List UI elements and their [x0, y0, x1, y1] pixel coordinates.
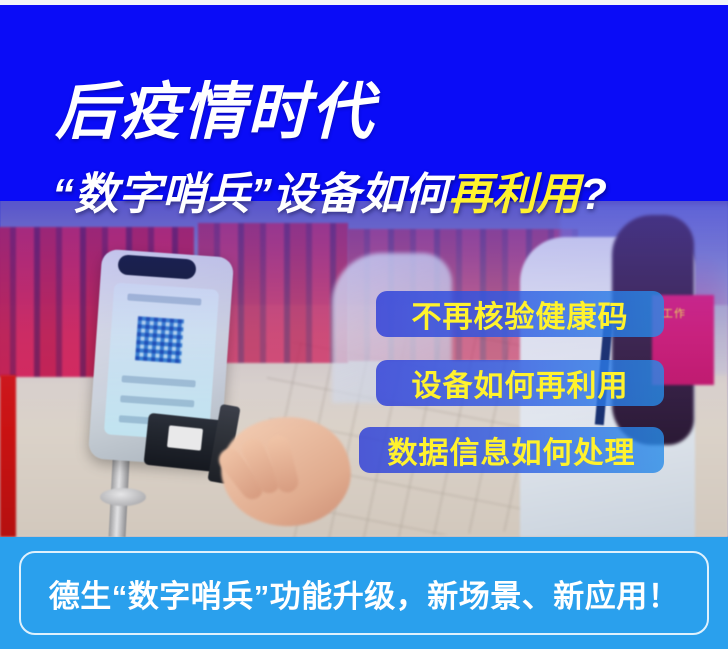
subtitle-prefix: “数字哨兵”设备如何	[52, 170, 448, 219]
topic-pill-label: 设备如何再利用	[412, 361, 629, 405]
poster-root: 工作 后疫情时代 “数字哨兵”设备如何再利用? 不再核验健康码 设备如何再利用 …	[0, 0, 728, 649]
footer-banner-text: 德生“数字哨兵”功能升级，新场景、新应用！	[49, 571, 680, 616]
subtitle-highlight: 再利用	[448, 170, 580, 219]
topic-pill-label: 数据信息如何处理	[388, 428, 636, 472]
footer-banner-box: 德生“数字哨兵”功能升级，新场景、新应用！	[19, 551, 709, 635]
top-white-strip	[0, 0, 728, 5]
page-subtitle: “数字哨兵”设备如何再利用?	[52, 173, 607, 217]
topic-pill-health-code[interactable]: 不再核验健康码	[376, 291, 664, 337]
topic-pill-data-handling[interactable]: 数据信息如何处理	[359, 427, 664, 473]
topic-pill-device-reuse[interactable]: 设备如何再利用	[376, 360, 664, 406]
topic-pill-label: 不再核验健康码	[412, 292, 629, 336]
subtitle-suffix: ?	[580, 170, 607, 219]
page-title: 后疫情时代	[55, 82, 375, 144]
